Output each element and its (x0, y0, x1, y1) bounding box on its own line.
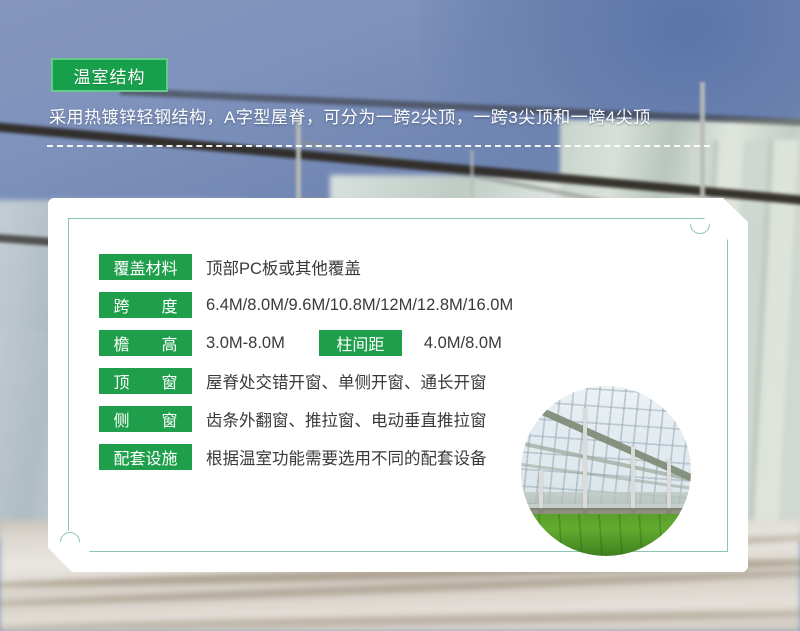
spec-value-supporting-facilities: 根据温室功能需要选用不同的配套设备 (206, 445, 487, 469)
spec-value-covering-material: 顶部PC板或其他覆盖 (206, 255, 361, 279)
spec-label-eave-height: 檐 高 (99, 330, 192, 356)
dashed-divider (47, 145, 710, 147)
spec-label-column-spacing: 柱间距 (319, 330, 402, 356)
greenhouse-interior-circle-photo (521, 386, 691, 556)
spec-label-span: 跨 度 (99, 292, 192, 318)
circle-turf-rows (521, 514, 691, 556)
spec-value-span: 6.4M/8.0M/9.6M/10.8M/12M/12.8M/16.0M (206, 296, 513, 315)
poster-stage: 温室结构 采用热镀锌轻钢结构，A字型屋脊，可分为一跨2尖顶，一跨3尖顶和一跨4尖… (0, 0, 800, 631)
spec-value-side-window: 齿条外翻窗、推拉窗、电动垂直推拉窗 (206, 407, 487, 431)
spec-value-column-spacing: 4.0M/8.0M (424, 334, 502, 353)
spec-label-supporting-facilities: 配套设施 (99, 444, 192, 470)
spec-label-covering-material: 覆盖材料 (99, 254, 192, 280)
spec-value-roof-window: 屋脊处交错开窗、单侧开窗、通长开窗 (206, 369, 487, 393)
section-subtitle: 采用热镀锌轻钢结构，A字型屋脊，可分为一跨2尖顶，一跨3尖顶和一跨4尖顶 (49, 103, 749, 128)
spec-label-side-window: 侧 窗 (99, 406, 192, 432)
spec-label-roof-window: 顶 窗 (99, 368, 192, 394)
table-row: 跨 度 6.4M/8.0M/9.6M/10.8M/12M/12.8M/16.0M (99, 286, 659, 324)
section-title-badge: 温室结构 (51, 58, 168, 92)
table-row: 檐 高 3.0M-8.0M 柱间距 4.0M/8.0M (99, 324, 659, 362)
spec-value-eave-height: 3.0M-8.0M (206, 334, 285, 353)
table-row: 覆盖材料 顶部PC板或其他覆盖 (99, 248, 659, 286)
